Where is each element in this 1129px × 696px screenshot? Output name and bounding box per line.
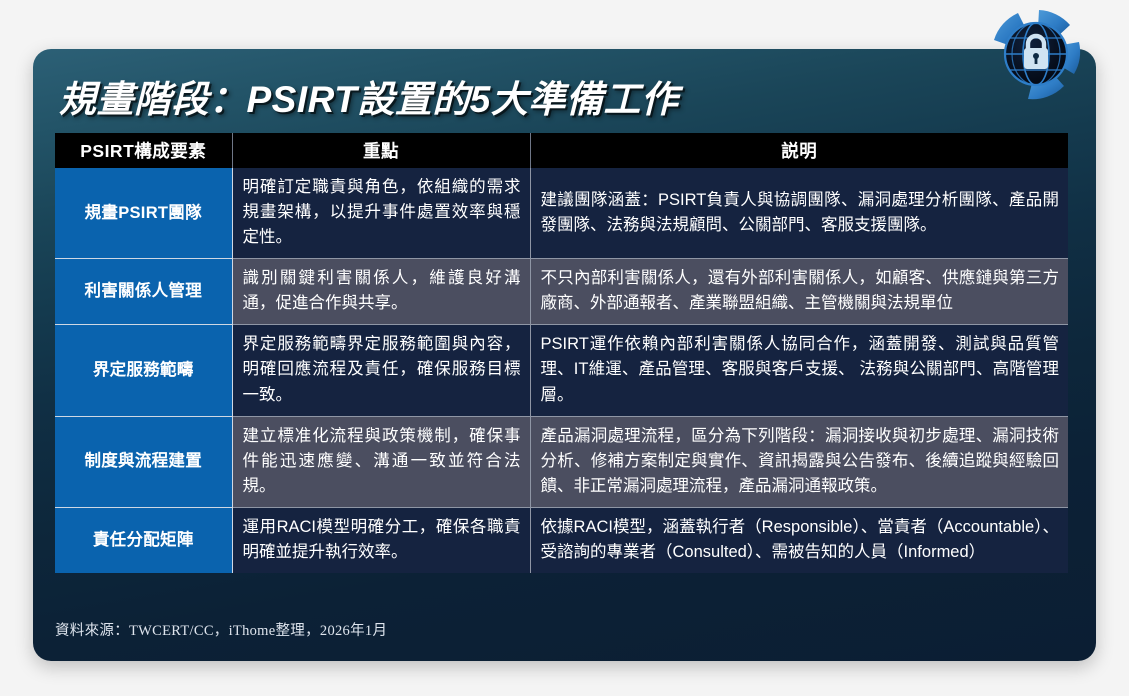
table-row: 責任分配矩陣 運用RACI模型明確分工，確保各職責明確並提升執行效率。 依據RA…	[55, 507, 1068, 573]
row-label: 利害關係人管理	[55, 259, 232, 325]
source-note: 資料來源：TWCERT/CC，iThome整理，2026年1月	[55, 619, 387, 640]
column-header-element: PSIRT構成要素	[55, 133, 232, 168]
table-header-row: PSIRT構成要素 重點 説明	[55, 133, 1068, 168]
security-logo	[978, 2, 1096, 106]
row-label: 界定服務範疇	[55, 325, 232, 416]
slide-card: 規畫階段：PSIRT設置的5大準備工作 PSIRT構成要素 重點 説明 規畫PS…	[33, 49, 1096, 661]
row-desc: PSIRT運作依賴內部利害關係人協同合作，涵蓋開發、測試與品質管理、IT維運、產…	[530, 325, 1068, 416]
row-key: 界定服務範疇界定服務範圍與內容，明確回應流程及責任，確保服務目標一致。	[232, 325, 530, 416]
row-label: 制度與流程建置	[55, 416, 232, 507]
row-desc: 建議團隊涵蓋：PSIRT負責人與協調團隊、漏洞處理分析團隊、產品開發團隊、法務與…	[530, 168, 1068, 259]
column-header-key: 重點	[232, 133, 530, 168]
row-label: 責任分配矩陣	[55, 507, 232, 573]
row-desc: 產品漏洞處理流程，區分為下列階段：漏洞接收與初步處理、漏洞技術分析、修補方案制定…	[530, 416, 1068, 507]
row-desc: 不只內部利害關係人，還有外部利害關係人，如顧客、供應鏈與第三方廠商、外部通報者、…	[530, 259, 1068, 325]
row-label: 規畫PSIRT團隊	[55, 168, 232, 259]
row-desc: 依據RACI模型，涵蓋執行者（Responsible）、當責者（Accounta…	[530, 507, 1068, 573]
psirt-table: PSIRT構成要素 重點 説明 規畫PSIRT團隊 明確訂定職責與角色，依組織的…	[55, 133, 1068, 573]
table-row: 制度與流程建置 建立標准化流程與政策機制，確保事件能迅速應變、溝通一致並符合法規…	[55, 416, 1068, 507]
row-key: 建立標准化流程與政策機制，確保事件能迅速應變、溝通一致並符合法規。	[232, 416, 530, 507]
table-row: 規畫PSIRT團隊 明確訂定職責與角色，依組織的需求規畫架構，以提升事件處置效率…	[55, 168, 1068, 259]
table-row: 界定服務範疇 界定服務範疇界定服務範圍與內容，明確回應流程及責任，確保服務目標一…	[55, 325, 1068, 416]
row-key: 運用RACI模型明確分工，確保各職責明確並提升執行效率。	[232, 507, 530, 573]
table-row: 利害關係人管理 識別關鍵利害關係人，維護良好溝通，促進合作與共享。 不只內部利害…	[55, 259, 1068, 325]
row-key: 識別關鍵利害關係人，維護良好溝通，促進合作與共享。	[232, 259, 530, 325]
page-title: 規畫階段：PSIRT設置的5大準備工作	[59, 69, 678, 123]
row-key: 明確訂定職責與角色，依組織的需求規畫架構，以提升事件處置效率與穩定性。	[232, 168, 530, 259]
psirt-table-wrapper: PSIRT構成要素 重點 説明 規畫PSIRT團隊 明確訂定職責與角色，依組織的…	[55, 133, 1068, 573]
column-header-desc: 説明	[530, 133, 1068, 168]
globe-lock-security-icon	[978, 2, 1096, 106]
